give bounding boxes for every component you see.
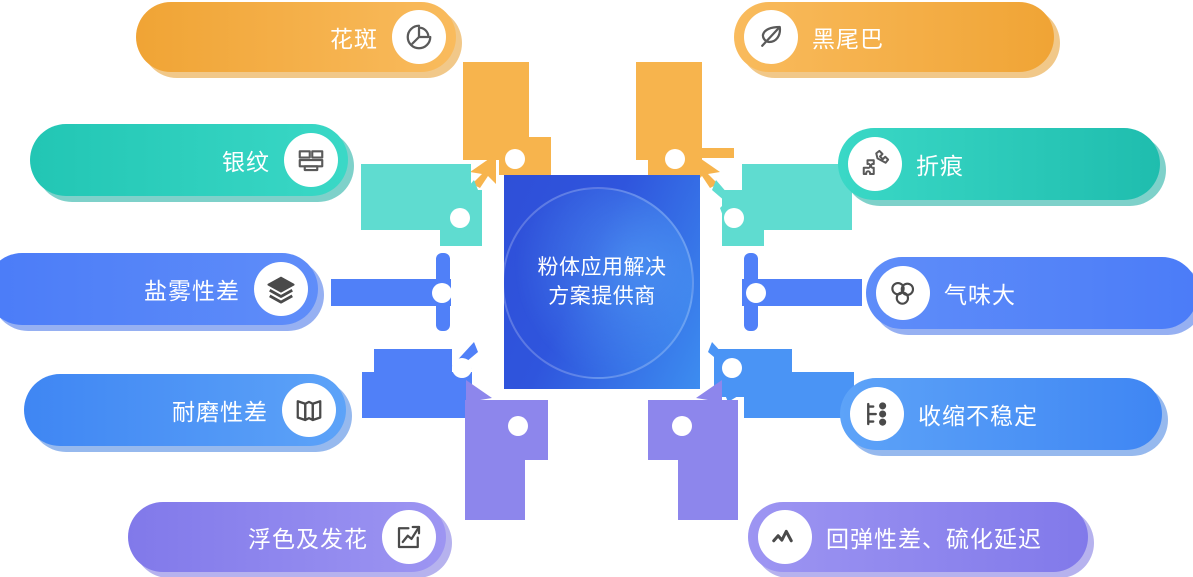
connector-dot <box>672 416 692 436</box>
connector-dot <box>724 208 744 228</box>
leaf-icon <box>744 10 798 64</box>
pill-label: 银纹 <box>222 143 270 177</box>
pill-zhe-hen[interactable]: 折痕 <box>838 128 1160 200</box>
pill-label: 黑尾巴 <box>812 20 884 54</box>
center-node: 粉体应用解决 方案提供商 <box>504 175 700 389</box>
activity-line-icon <box>758 510 812 564</box>
connector-dot <box>665 149 685 169</box>
recycle-icon <box>876 266 930 320</box>
connector-dot <box>505 149 525 169</box>
center-node-label-line1: 粉体应用解决 <box>517 253 687 282</box>
pill-label: 气味大 <box>944 276 1016 310</box>
pill-body[interactable]: 回弹性差、硫化延迟 <box>748 502 1088 572</box>
pill-body[interactable]: 盐雾性差 <box>0 253 318 325</box>
center-node-label-line2: 方案提供商 <box>517 282 687 311</box>
pill-body[interactable]: 花斑 <box>136 2 456 72</box>
puzzle-piece-icon <box>848 137 902 191</box>
pill-qi-wei-da[interactable]: 气味大 <box>866 257 1193 329</box>
pill-label: 花斑 <box>330 20 378 54</box>
pill-label: 浮色及发花 <box>248 520 368 554</box>
pill-body[interactable]: 银纹 <box>30 124 348 196</box>
pill-body[interactable]: 黑尾巴 <box>734 2 1054 72</box>
connector-dot <box>722 358 742 378</box>
connector-dot <box>452 358 472 378</box>
pill-body[interactable]: 浮色及发花 <box>128 502 446 572</box>
pill-label: 折痕 <box>916 147 964 181</box>
pill-yan-wu-xing-cha[interactable]: 盐雾性差 <box>0 253 318 325</box>
arrow-head-icon <box>462 378 504 424</box>
pie-chart-icon <box>392 10 446 64</box>
pill-body[interactable]: 耐磨性差 <box>24 374 346 446</box>
pill-nai-mo-xing-cha[interactable]: 耐磨性差 <box>24 374 346 446</box>
pill-body[interactable]: 收缩不稳定 <box>840 378 1162 450</box>
open-book-icon <box>282 383 336 437</box>
connector-dot <box>508 416 528 436</box>
pill-label: 盐雾性差 <box>144 272 240 306</box>
pill-body[interactable]: 气味大 <box>866 257 1193 329</box>
layers-icon <box>254 262 308 316</box>
sitemap-icon <box>850 387 904 441</box>
pill-body[interactable]: 折痕 <box>838 128 1160 200</box>
connector-dot <box>450 208 470 228</box>
pill-label: 耐磨性差 <box>172 393 268 427</box>
center-node-label: 粉体应用解决 方案提供商 <box>517 253 687 311</box>
pill-fu-se-ji-fa-hua[interactable]: 浮色及发花 <box>128 502 446 572</box>
brick-wall-icon <box>284 133 338 187</box>
pill-yin-wen[interactable]: 银纹 <box>30 124 348 196</box>
infographic-canvas: 粉体应用解决 方案提供商 花斑 银纹 <box>0 0 1193 577</box>
connector-dot <box>746 283 766 303</box>
pill-hui-tan-xing-cha[interactable]: 回弹性差、硫化延迟 <box>748 502 1088 572</box>
pill-shou-suo-bu-wen-ding[interactable]: 收缩不稳定 <box>840 378 1162 450</box>
pill-hei-wei-ba[interactable]: 黑尾巴 <box>734 2 1054 72</box>
trending-up-box-icon <box>382 510 436 564</box>
pill-hua-ban[interactable]: 花斑 <box>136 2 456 72</box>
pill-label: 收缩不稳定 <box>918 397 1038 431</box>
pill-label: 回弹性差、硫化延迟 <box>826 520 1042 554</box>
connector-dot <box>432 283 452 303</box>
